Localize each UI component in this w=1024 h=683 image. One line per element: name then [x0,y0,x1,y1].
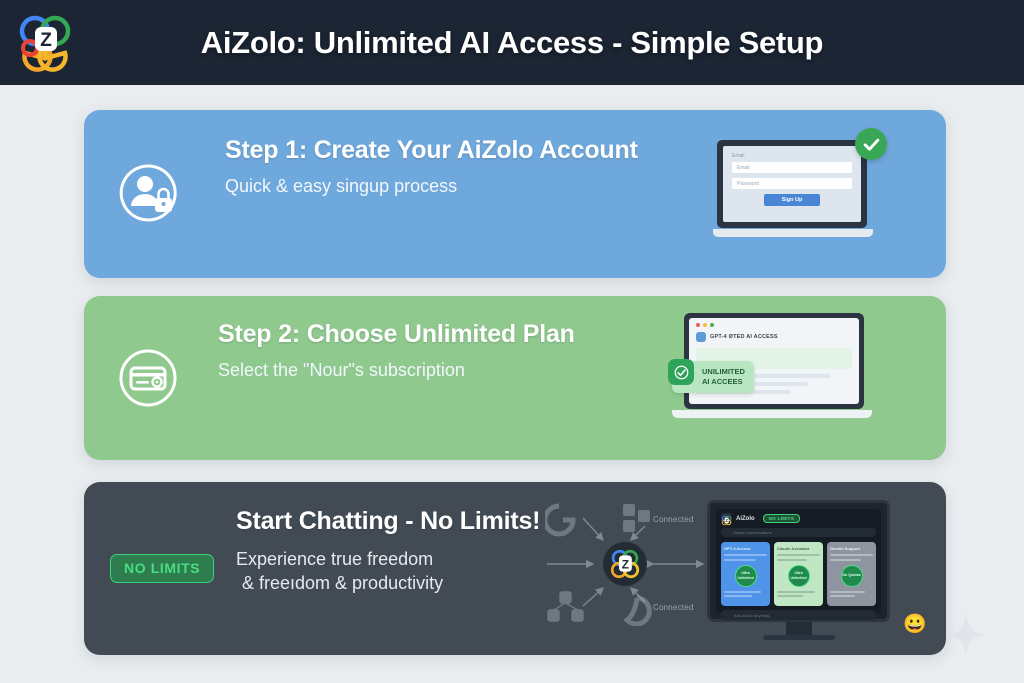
monitor-bezel: Z AiZolo NO LIMITS Search conversations … [707,500,890,622]
check-circle-icon [855,128,887,160]
node-tree-icon [548,592,583,621]
step-2-text: Step 2: Choose Unlimited Plan Select the… [218,320,575,381]
network-label-top: Connected [653,515,694,524]
plan-laptop-illustration: GPT-4 ØTED AI ACCESS UNILIMITED AI ACCEE… [672,313,872,431]
password-field[interactable]: Password [732,178,852,189]
signup-laptop-illustration: Email Email Password Sign Up [713,140,873,242]
email-field[interactable]: Email [732,162,852,173]
page-header: Z AiZolo: Unlimited AI Access - Simple S… [0,0,1024,85]
minimize-dot-icon [703,323,707,327]
step-3-text: Start Chatting - No Limits! Experience t… [236,507,540,596]
g-logo-icon [545,506,573,534]
laptop-lid: Email Email Password Sign Up [717,140,867,228]
maximize-dot-icon [710,323,714,327]
step-1-subtitle: Quick & easy singup process [225,176,638,197]
panel-claude[interactable]: Claude Assistant Ultra Unlimited [774,542,823,606]
plan-window-title: GPT-4 ØTED AI ACCESS [710,334,778,340]
step-3-title: Start Chatting - No Limits! [236,507,540,536]
panel-title: GPT-4 Access [724,546,767,551]
badge-line-1: UNILIMITED [702,367,745,376]
plan-window-header: GPT-4 ØTED AI ACCESS [696,332,852,342]
aizolo-logo: Z [13,11,77,75]
panel-gemini[interactable]: Gemini Support No Quotas [827,542,876,606]
svg-text:Z: Z [40,30,52,51]
step-3-subtitle-line1: Experience true freedom [236,549,433,569]
sparkle-icon [946,612,986,658]
cubes-icon [623,504,650,532]
signup-form-screen: Email Email Password Sign Up [723,146,861,222]
search-input[interactable]: Search conversations [721,528,876,537]
app-logo-icon [696,332,706,342]
monitor-illustration: Z AiZolo NO LIMITS Search conversations … [707,500,890,640]
panel-badge: No Quotas [841,565,863,587]
unlimited-access-badge: UNILIMITED AI ACCEES [672,361,754,393]
svg-text:Z: Z [622,557,629,571]
aizolo-logo-icon: Z [721,513,732,524]
network-diagram: Z Connected Connected [545,498,720,626]
badge-line-2: AI ACCEES [702,377,743,386]
panel-badge: Ultra Unlimited [788,565,810,587]
app-no-limits-badge: NO LIMITS [763,514,800,523]
step-2-subtitle: Select the "Nour"s subscription [218,360,575,381]
panel-badge: Ultra Unlimited [735,565,757,587]
step-3-subtitle: Experience true freedom & freeıdom & pro… [236,547,540,596]
panel-gpt4[interactable]: GPT-4 Access Ultra Unlimited [721,542,770,606]
monitor-stand [786,622,812,635]
spiral-icon [627,598,649,624]
chat-input[interactable]: Ask AiZolo anything... [721,610,876,620]
step-1-title: Step 1: Create Your AiZolo Account [225,136,638,165]
window-dots [696,323,852,327]
user-lock-icon [117,162,179,224]
step-1-text: Step 1: Create Your AiZolo Account Quick… [225,136,638,197]
app-brand-name: AiZolo [736,516,755,522]
panel-title: Gemini Support [830,546,873,551]
sign-up-button[interactable]: Sign Up [764,194,820,206]
step-2-title: Step 2: Choose Unlimited Plan [218,320,575,349]
page-title: AiZolo: Unlimited AI Access - Simple Set… [0,25,1024,61]
laptop-base [713,229,873,237]
panel-title: Claude Assistant [777,546,820,551]
laptop-base [672,410,872,418]
infographic-page: Z AiZolo: Unlimited AI Access - Simple S… [0,0,1024,683]
no-limits-badge: NO LIMITS [110,554,214,583]
email-label: Email [732,153,852,159]
step-3-subtitle-line2: & freeıdom & productivity [236,573,443,593]
aizolo-app-screen: Z AiZolo NO LIMITS Search conversations … [716,509,881,613]
monitor-foot [763,635,835,640]
smiley-emoji: 😀 [903,612,927,636]
aizolo-hub-logo: Z [603,542,647,586]
credit-card-icon [117,347,179,409]
check-circle-icon [668,359,694,385]
app-header: Z AiZolo NO LIMITS [721,513,876,524]
network-label-bottom: Connected [653,603,694,612]
app-panels: GPT-4 Access Ultra Unlimited Claude Assi… [721,542,876,606]
close-dot-icon [696,323,700,327]
